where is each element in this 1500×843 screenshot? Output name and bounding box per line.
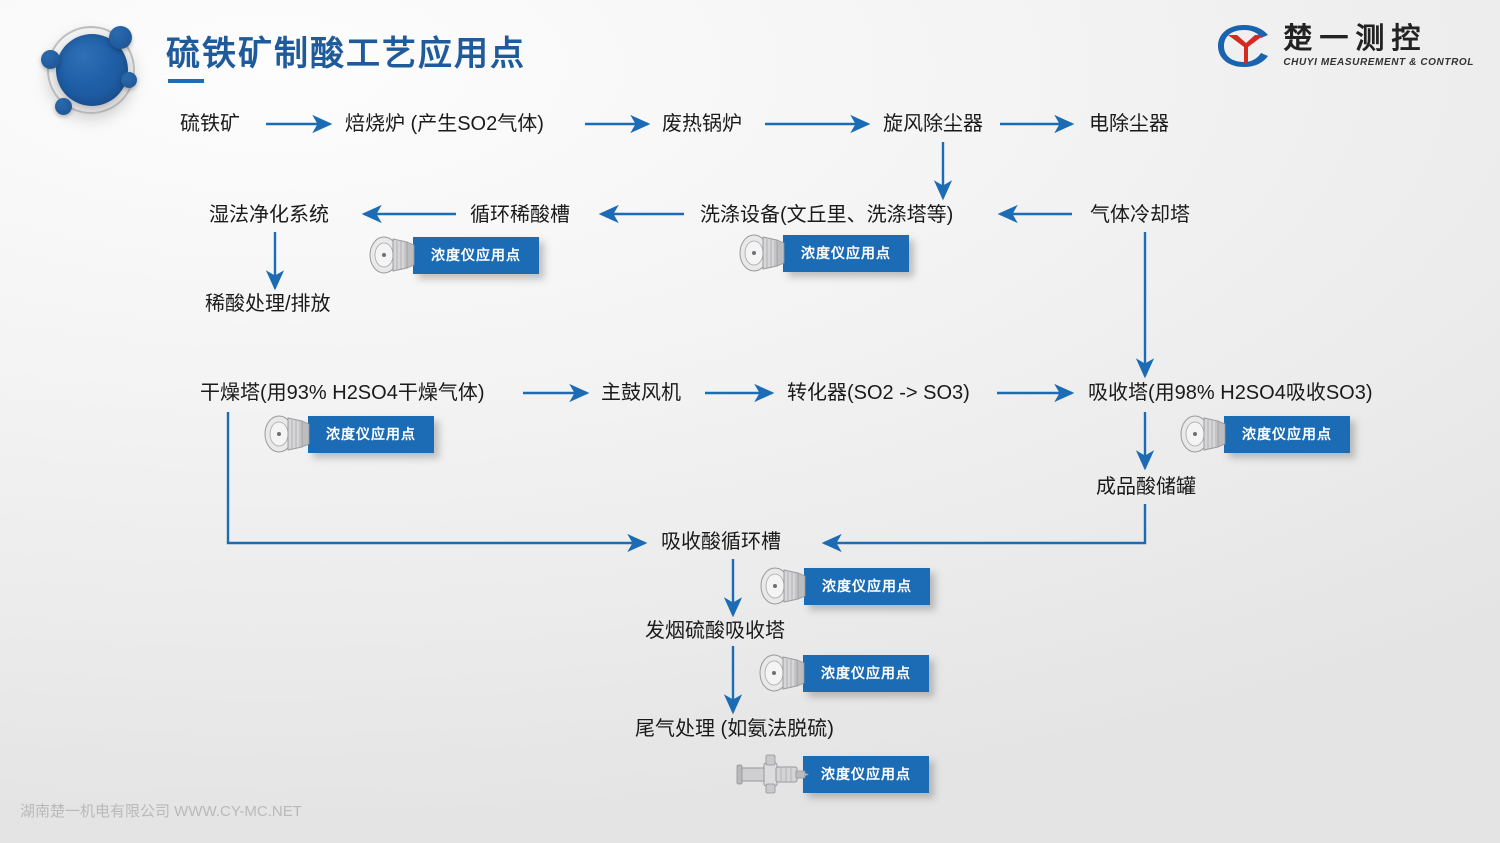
badge-group-tail-gas-treatment[interactable]: 浓度仪应用点 <box>735 752 929 796</box>
badge-label[interactable]: 浓度仪应用点 <box>308 416 434 453</box>
badge-label[interactable]: 浓度仪应用点 <box>803 756 929 793</box>
badge-label[interactable]: 浓度仪应用点 <box>783 235 909 272</box>
flow-node-wet-purification-system[interactable]: 湿法净化系统 <box>209 204 329 226</box>
badge-group-oleum-absorption-tower[interactable]: 浓度仪应用点 <box>757 651 929 695</box>
badge-label[interactable]: 浓度仪应用点 <box>1224 416 1350 453</box>
flow-node-main-blower[interactable]: 主鼓风机 <box>601 382 681 404</box>
concentration-sensor-icon <box>367 233 419 277</box>
flow-node-absorption-tower[interactable]: 吸收塔(用98% H2SO4吸收SO3) <box>1088 382 1373 404</box>
flow-node-absorption-acid-circulation-tank[interactable]: 吸收酸循环槽 <box>661 531 781 553</box>
flow-node-dilute-acid-circulation-tank[interactable]: 循环稀酸槽 <box>470 204 570 226</box>
badge-label[interactable]: 浓度仪应用点 <box>413 237 539 274</box>
concentration-sensor-icon <box>1178 412 1230 456</box>
badge-group-dilute-acid-tank[interactable]: 浓度仪应用点 <box>367 233 539 277</box>
flow-node-pyrite[interactable]: 硫铁矿 <box>180 113 240 135</box>
flow-node-roasting-furnace[interactable]: 焙烧炉 (产生SO2气体) <box>345 113 544 135</box>
badge-label[interactable]: 浓度仪应用点 <box>803 655 929 692</box>
flow-node-product-acid-storage-tank[interactable]: 成品酸储罐 <box>1096 476 1196 498</box>
badge-group-scrubbing-equipment[interactable]: 浓度仪应用点 <box>737 231 909 275</box>
concentration-sensor-icon <box>757 651 809 695</box>
concentration-sensor-icon <box>737 231 789 275</box>
concentration-sensor-icon <box>758 564 810 608</box>
flow-node-oleum-absorption-tower[interactable]: 发烟硫酸吸收塔 <box>645 620 785 642</box>
flow-node-dilute-acid-treatment[interactable]: 稀酸处理/排放 <box>205 293 331 315</box>
flow-node-cyclone-dust-collector[interactable]: 旋风除尘器 <box>883 113 983 135</box>
concentration-sensor-icon <box>262 412 314 456</box>
flow-node-electrostatic-precipitator[interactable]: 电除尘器 <box>1089 113 1169 135</box>
badge-group-absorption-tower[interactable]: 浓度仪应用点 <box>1178 412 1350 456</box>
flow-node-tail-gas-treatment[interactable]: 尾气处理 (如氨法脱硫) <box>635 718 834 740</box>
badge-group-drying-tower[interactable]: 浓度仪应用点 <box>262 412 434 456</box>
badge-group-absorption-acid-tank[interactable]: 浓度仪应用点 <box>758 564 930 608</box>
flow-node-waste-heat-boiler[interactable]: 废热锅炉 <box>662 113 742 135</box>
footer-company-text: 湖南楚一机电有限公司 WWW.CY-MC.NET <box>20 800 302 821</box>
inline-pipe-sensor-icon <box>735 752 809 796</box>
flow-node-drying-tower[interactable]: 干燥塔(用93% H2SO4干燥气体) <box>200 382 485 404</box>
slide-canvas: 硫铁矿制酸工艺应用点 楚一测控 CHUYI MEASUREMENT & CONT… <box>0 0 1500 843</box>
badge-label[interactable]: 浓度仪应用点 <box>804 568 930 605</box>
flow-node-gas-cooling-tower[interactable]: 气体冷却塔 <box>1090 204 1190 226</box>
flow-node-scrubbing-equipment[interactable]: 洗涤设备(文丘里、洗涤塔等) <box>700 204 953 226</box>
flow-node-converter[interactable]: 转化器(SO2 -> SO3) <box>787 382 970 404</box>
